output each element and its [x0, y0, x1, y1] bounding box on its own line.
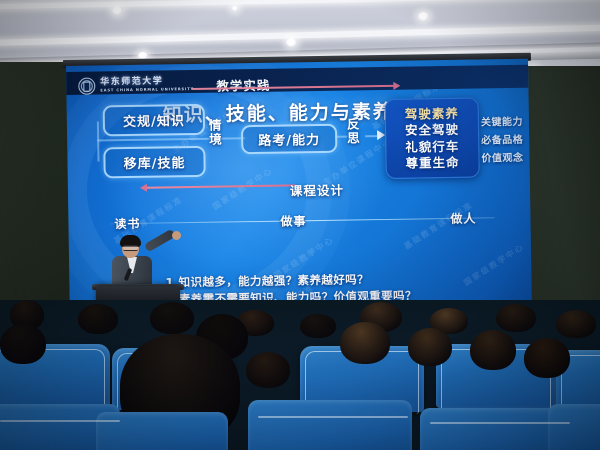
ceiling-downlight: [418, 12, 429, 21]
audience-head: [496, 304, 536, 332]
audience-head: [0, 324, 46, 364]
audience-head: [470, 330, 516, 370]
audience-head: [300, 314, 336, 338]
ceiling-downlight: [286, 38, 297, 47]
ceiling-downlight: [232, 6, 238, 11]
ceiling-light-strip: [0, 0, 600, 9]
audience-head: [340, 322, 390, 364]
audience-area: [0, 300, 600, 450]
ceiling-light-strip: [0, 24, 600, 46]
audience-head: [246, 352, 290, 388]
speaker-raised-arm: [144, 229, 176, 253]
ceiling-downlight: [112, 6, 123, 15]
audience-head: [78, 304, 118, 334]
audience-head: [524, 338, 570, 378]
audience-head: [556, 310, 596, 338]
lecture-hall-photo: 基础教育课程标准国家级教学中心主办单位课程中心基础教育课程标准国家级教学中心主办…: [0, 0, 600, 450]
speaker-hand: [172, 231, 181, 240]
seat-piping: [258, 416, 408, 418]
audience-seat-front: [548, 404, 600, 450]
seat-piping: [0, 420, 120, 422]
audience-seat-front: [96, 412, 228, 450]
glasses-icon: [123, 245, 138, 251]
audience-head: [408, 328, 452, 366]
audience-seat-front: [248, 400, 412, 450]
audience-head: [150, 302, 194, 334]
seat-piping: [430, 422, 570, 424]
